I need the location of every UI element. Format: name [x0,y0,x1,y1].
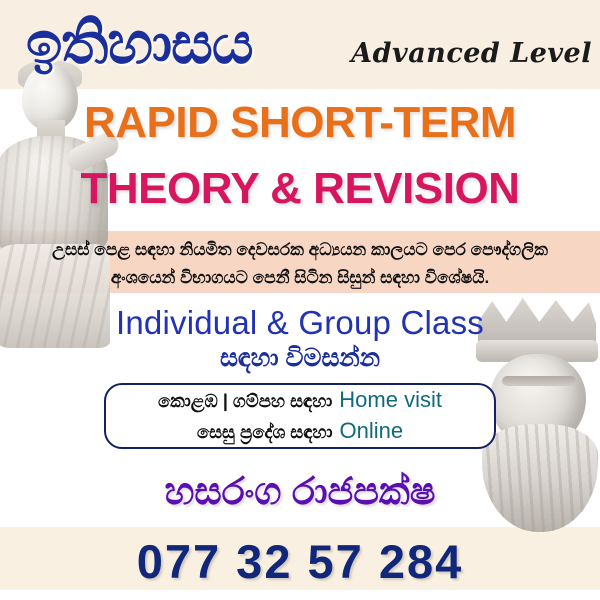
delivery-region-other: සෙසු ප්‍රදේශ සඳහා [197,417,333,447]
background-band-footer [0,590,600,600]
description-block: උසස් පෙළ සඳහා නියමිත දෙවසරක අධ්‍යයන කාලය… [10,236,590,292]
delivery-row-online: සෙසු ප්‍රදේශ සඳහා Online [197,416,403,447]
description-line-2: අංශයෙන් විභාගයට පෙනී සිටින සිසුන් සඳහා ව… [10,264,590,292]
exam-level-label: Advanced Level [351,38,592,69]
teacher-name: හසරංග රාජපක්ෂ [0,466,600,518]
headline-line-2: THEORY & REVISION [0,163,600,215]
class-type-sinhala: සඳහා විමසන්න [0,341,600,375]
class-type-english: Individual & Group Class [0,303,600,343]
poster-root: ඉතිහාසය Advanced Level RAPID SHORT-TERM … [0,0,600,600]
contact-phone-number[interactable]: 077 32 57 284 [0,534,600,590]
delivery-mode-online: Online [340,416,404,446]
headline-line-1: RAPID SHORT-TERM [0,97,600,149]
delivery-mode-box: කොළඹ | ගම්පහ සඳහා Home visit සෙසු ප්‍රදේ… [104,383,496,449]
description-line-1: උසස් පෙළ සඳහා නියමිත දෙවසරක අධ්‍යයන කාලය… [10,236,590,264]
delivery-region-colombo-gampaha: කොළඹ | ගම්පහ සඳහා [158,386,332,416]
delivery-row-home-visit: කොළඹ | ගම්පහ සඳහා Home visit [158,385,442,416]
delivery-mode-home-visit: Home visit [339,385,442,415]
